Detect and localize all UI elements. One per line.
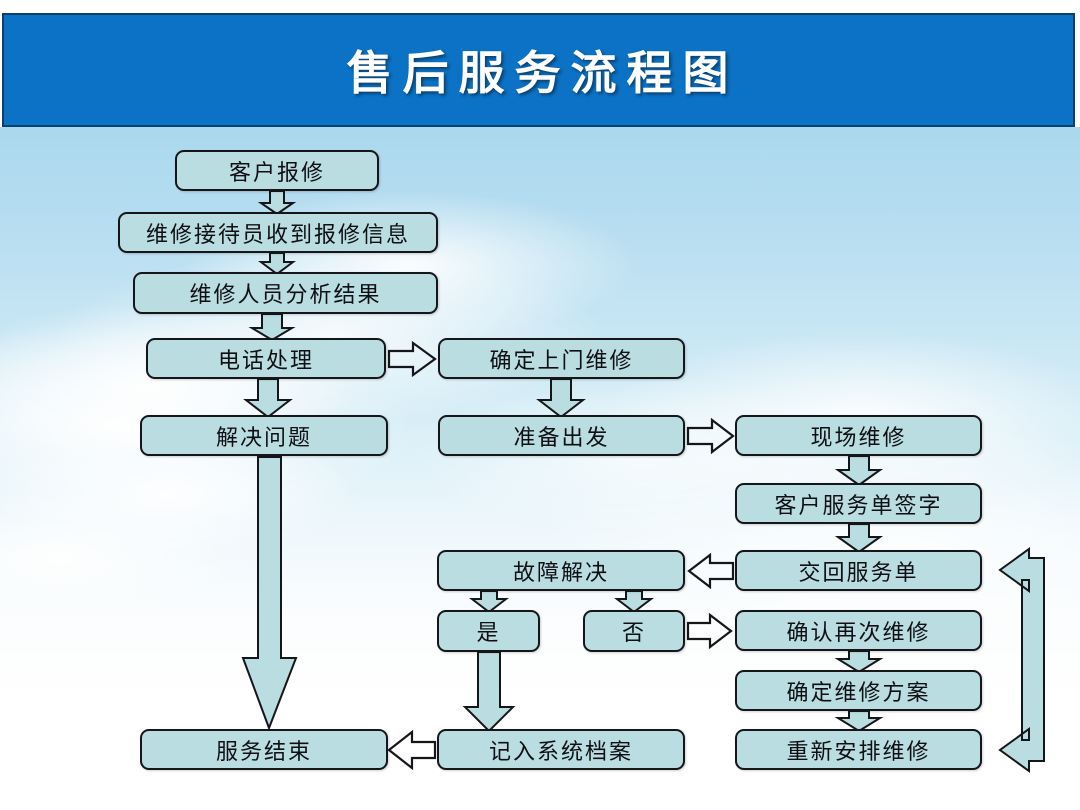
node-confirm-onsite-repair[interactable]: 确定上门维修 xyxy=(438,338,685,379)
node-customer-report[interactable]: 客户报修 xyxy=(175,150,379,191)
node-reschedule-repair[interactable]: 重新安排维修 xyxy=(735,729,982,770)
node-confirm-rerepair[interactable]: 确认再次维修 xyxy=(735,610,982,651)
node-receptionist-receive[interactable]: 维修接待员收到报修信息 xyxy=(118,212,438,253)
node-problem-solved[interactable]: 解决问题 xyxy=(140,415,388,456)
node-service-end[interactable]: 服务结束 xyxy=(140,729,388,770)
node-onsite-repair[interactable]: 现场维修 xyxy=(735,415,982,456)
node-no[interactable]: 否 xyxy=(583,610,685,652)
node-record-to-system[interactable]: 记入系统档案 xyxy=(437,729,685,770)
node-phone-handling[interactable]: 电话处理 xyxy=(146,338,386,379)
node-fault-resolved[interactable]: 故障解决 xyxy=(437,550,685,591)
node-yes[interactable]: 是 xyxy=(437,610,540,652)
flowchart-canvas: 售后服务流程图 xyxy=(0,0,1080,810)
page-title: 售后服务流程图 xyxy=(4,15,1073,125)
node-confirm-repair-plan[interactable]: 确定维修方案 xyxy=(735,670,982,711)
title-banner: 售后服务流程图 xyxy=(2,13,1075,127)
node-return-service-order[interactable]: 交回服务单 xyxy=(735,550,982,591)
node-prepare-departure[interactable]: 准备出发 xyxy=(438,415,685,456)
node-customer-signature[interactable]: 客户服务单签字 xyxy=(735,483,982,524)
node-technician-analysis[interactable]: 维修人员分析结果 xyxy=(133,272,438,314)
